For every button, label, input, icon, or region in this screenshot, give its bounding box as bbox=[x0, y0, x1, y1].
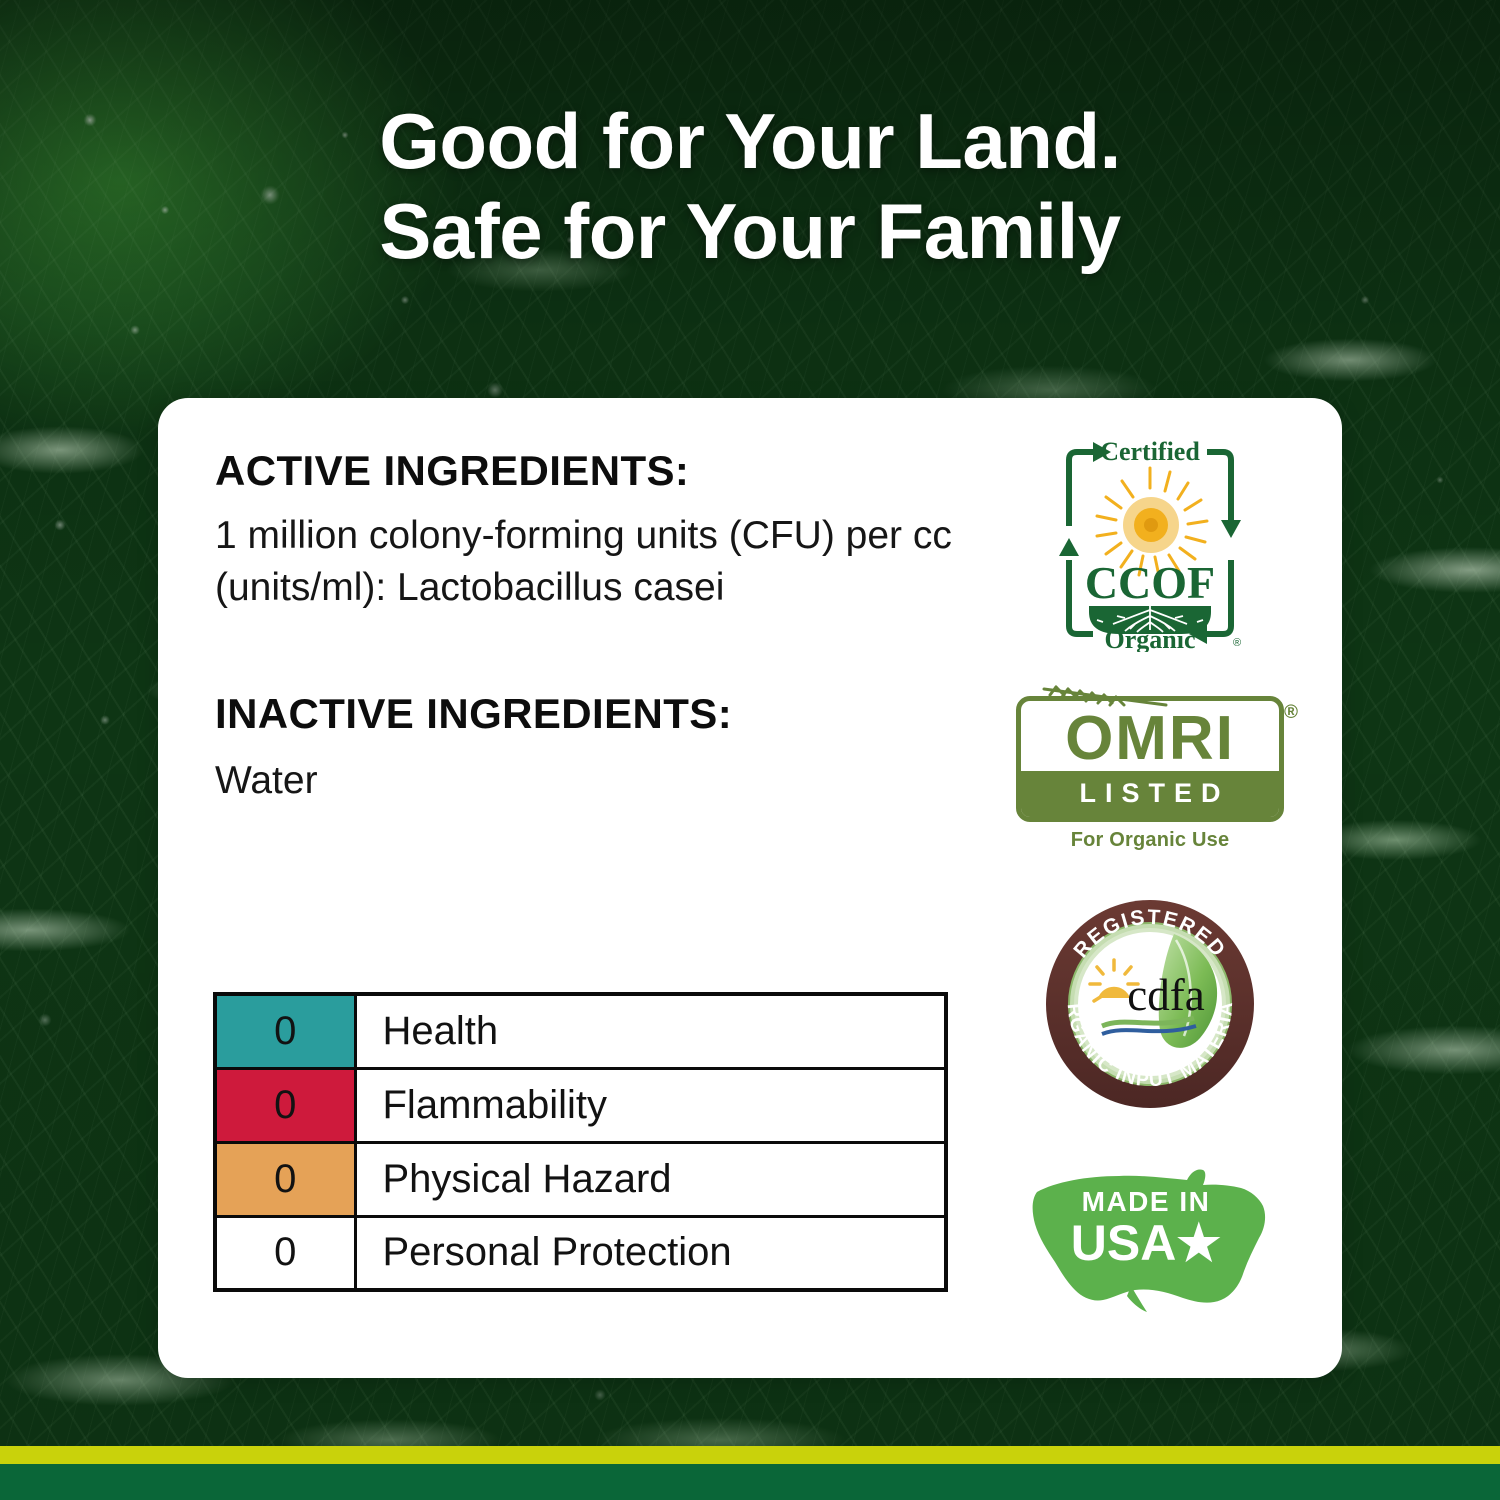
hazard-row: 0Flammability bbox=[215, 1068, 946, 1142]
ingredients-info-card: ACTIVE INGREDIENTS: 1 million colony-for… bbox=[158, 398, 1342, 1378]
cdfa-seal-icon: cdfa REGISTERED ORGANIC INPUT MATERIAL bbox=[1044, 898, 1256, 1110]
cdfa-registered-organic-input-material-seal: cdfa REGISTERED ORGANIC INPUT MATERIAL bbox=[1000, 898, 1300, 1110]
hazard-label-cell: Physical Hazard bbox=[355, 1142, 946, 1216]
hazard-rating-table: 0Health0Flammability0Physical Hazard0Per… bbox=[213, 992, 948, 1292]
hazard-value-cell: 0 bbox=[215, 1142, 355, 1216]
cdfa-wordmark: cdfa bbox=[1127, 970, 1204, 1020]
active-ingredients-body: 1 million colony-forming units (CFU) per… bbox=[215, 510, 975, 613]
ingredients-text-column: ACTIVE INGREDIENTS: 1 million colony-for… bbox=[215, 448, 975, 807]
headline: Good for Your Land. Safe for Your Family bbox=[0, 96, 1500, 277]
omri-subtitle: For Organic Use bbox=[1016, 829, 1284, 852]
hazard-row: 0Health bbox=[215, 994, 946, 1068]
wheat-sprig-icon bbox=[1038, 683, 1178, 709]
omri-bottom-text: LISTED bbox=[1021, 771, 1279, 817]
made-in-usa-badge: MADE IN USA★ bbox=[1000, 1158, 1300, 1318]
usa-map-icon bbox=[1015, 1158, 1285, 1318]
hazard-label-cell: Health bbox=[355, 994, 946, 1068]
headline-line-2: Safe for Your Family bbox=[0, 186, 1500, 276]
active-ingredients-heading: ACTIVE INGREDIENTS: bbox=[215, 448, 975, 494]
ccof-wordmark: CCOF bbox=[1085, 557, 1215, 608]
inactive-ingredients-heading: INACTIVE INGREDIENTS: bbox=[215, 691, 975, 737]
footer-green-bar bbox=[0, 1464, 1500, 1500]
hazard-row: 0Physical Hazard bbox=[215, 1142, 946, 1216]
ccof-icon: CCOF bbox=[1055, 434, 1245, 652]
hazard-label-cell: Personal Protection bbox=[355, 1216, 946, 1290]
hazard-value-cell: 0 bbox=[215, 994, 355, 1068]
hazard-label-cell: Flammability bbox=[355, 1068, 946, 1142]
hazard-row: 0Personal Protection bbox=[215, 1216, 946, 1290]
inactive-ingredients-body: Water bbox=[215, 755, 975, 806]
hazard-value-cell: 0 bbox=[215, 1068, 355, 1142]
headline-line-1: Good for Your Land. bbox=[0, 96, 1500, 186]
ccof-top-text: Certified bbox=[1100, 437, 1200, 466]
certification-badges: CCOF bbox=[1000, 420, 1300, 1318]
ccof-registered-mark: ® bbox=[1233, 637, 1241, 649]
omri-top-text: OMRI bbox=[1021, 701, 1279, 771]
footer-lime-stripe bbox=[0, 1446, 1500, 1464]
omri-listed-logo: OMRI LISTED ® For Organic Use bbox=[1000, 696, 1300, 852]
ccof-bottom-text: Organic bbox=[1105, 625, 1196, 652]
hazard-value-cell: 0 bbox=[215, 1216, 355, 1290]
omri-registered-mark: ® bbox=[1284, 702, 1298, 724]
omri-box: OMRI LISTED bbox=[1016, 696, 1284, 822]
ccof-certified-organic-logo: CCOF bbox=[1000, 434, 1300, 652]
